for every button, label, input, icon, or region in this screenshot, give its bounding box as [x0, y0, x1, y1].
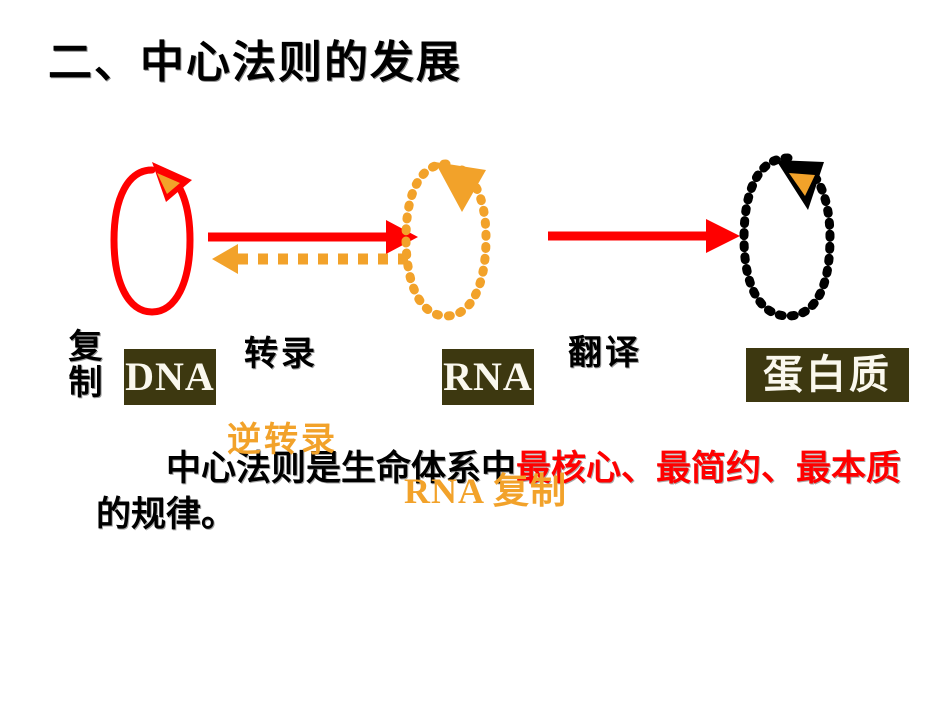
label-translation: 翻译: [568, 325, 642, 374]
transcription-arrow-icon: [208, 220, 418, 254]
label-rna-replication: RNA 复制: [404, 462, 567, 514]
label-reverse-transcription: 逆转录: [227, 412, 338, 461]
summary-text-highlight-2: 最本质: [796, 449, 901, 489]
rna-replication-loop-icon: [406, 162, 486, 316]
node-rna: RNA: [442, 349, 534, 405]
slide-canvas: 二、中心法则的发展: [0, 0, 950, 713]
central-dogma-diagram: DNA RNA 蛋白质 复制 转录 逆转录 翻译 RNA 复制: [0, 140, 950, 390]
label-transcription: 转录: [244, 326, 318, 375]
label-replication: 复制: [64, 328, 110, 400]
node-dna: DNA: [124, 349, 216, 405]
node-protein: 蛋白质: [746, 348, 909, 402]
protein-loop-icon: [744, 158, 830, 316]
summary-text-plain-2: 的规律。: [96, 495, 236, 535]
translation-arrow-icon: [548, 219, 740, 253]
dna-replication-loop-icon: [114, 162, 192, 312]
page-title: 二、中心法则的发展: [48, 26, 462, 90]
